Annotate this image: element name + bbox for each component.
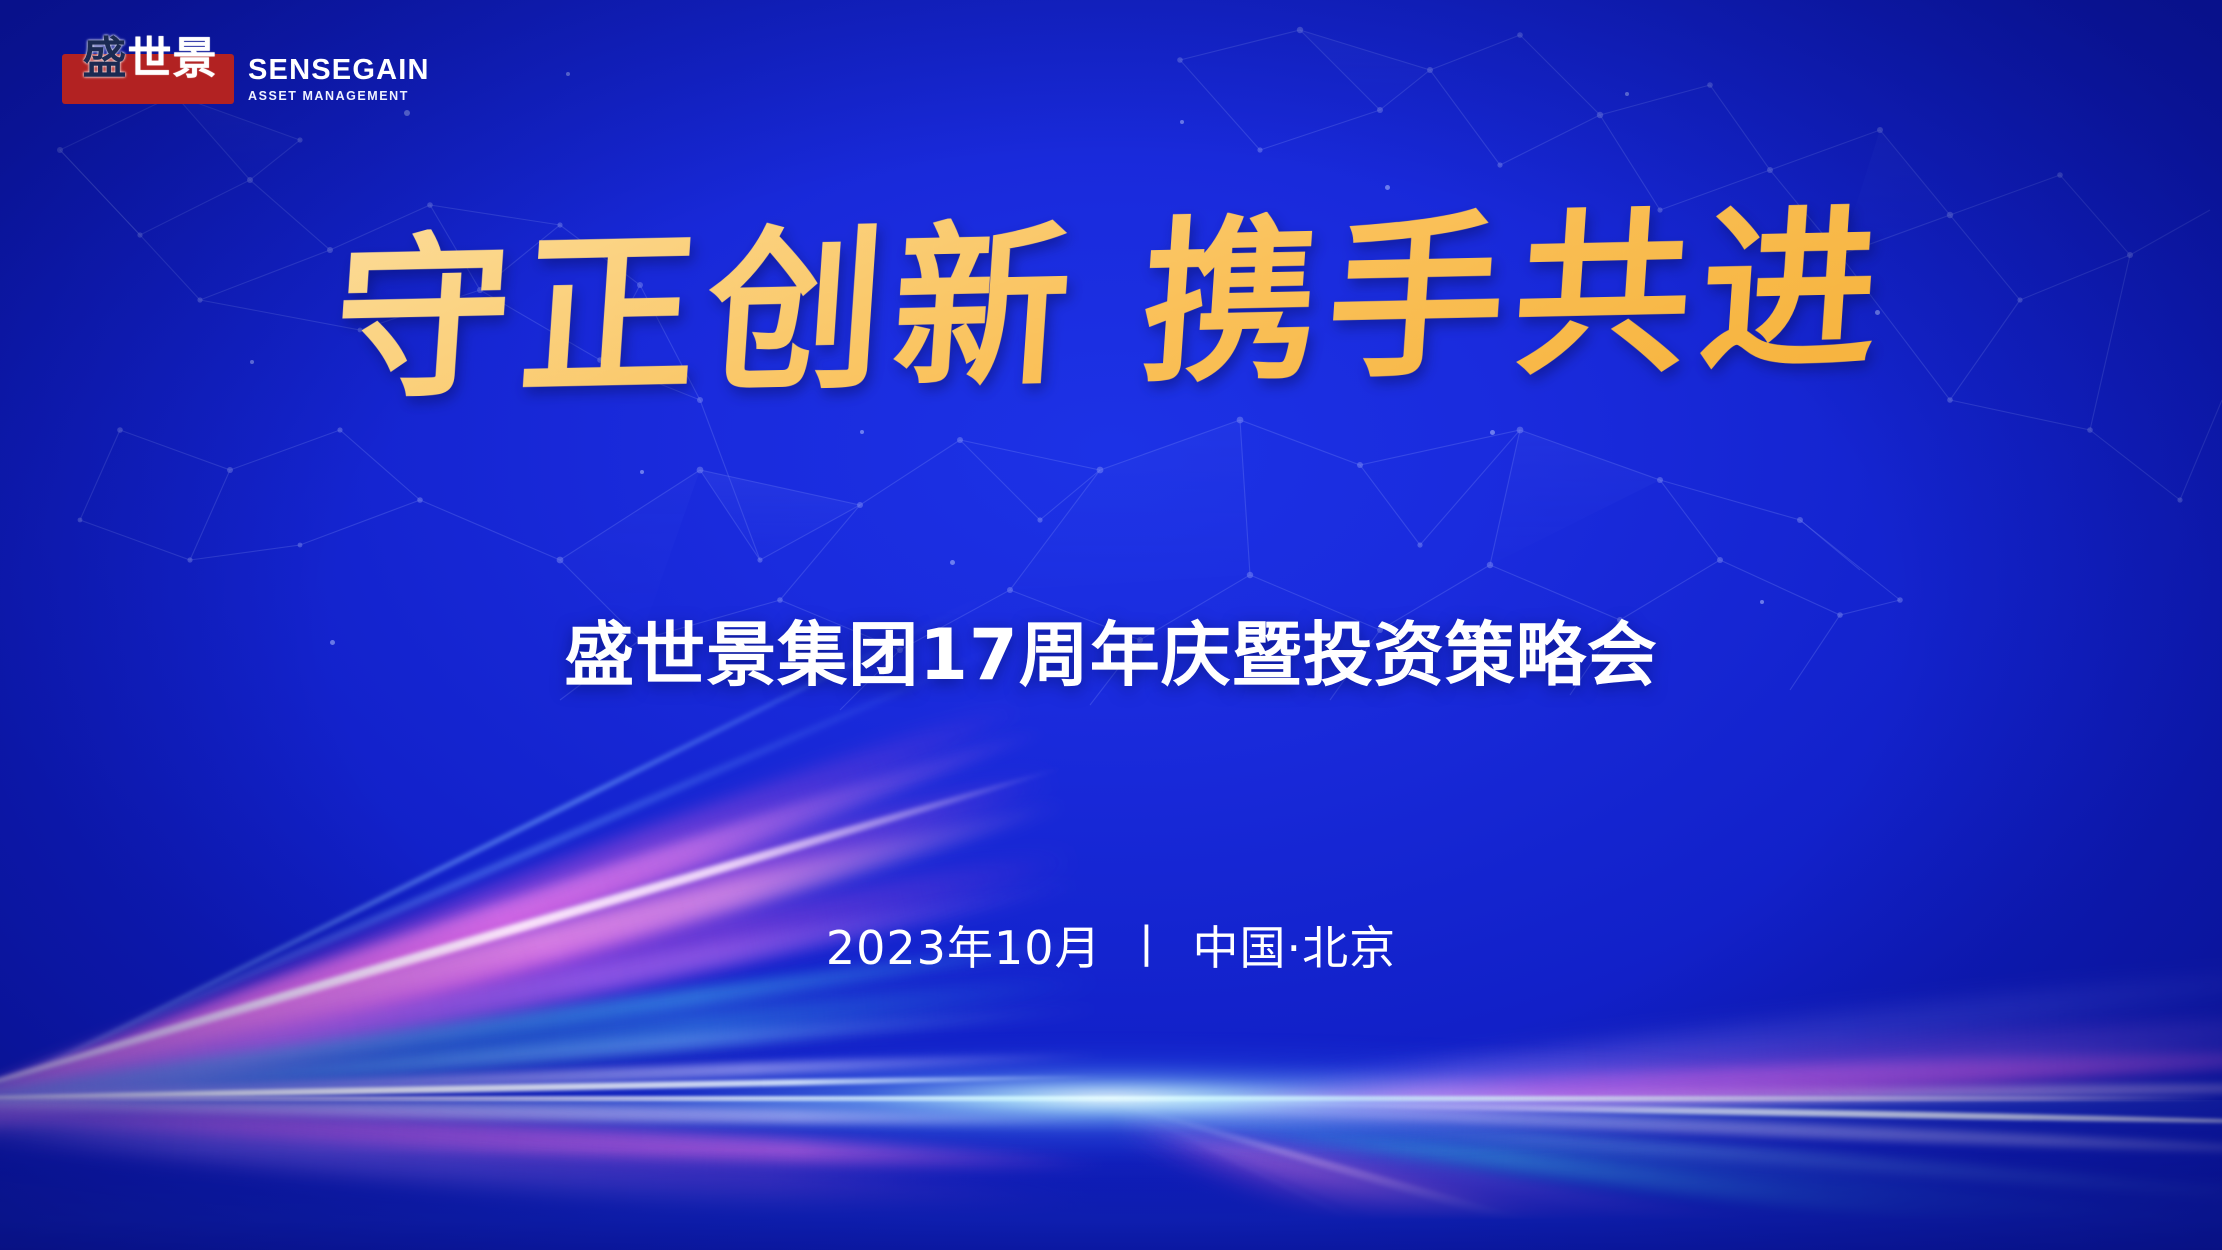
- logo-char-jing: 景: [173, 33, 218, 84]
- logo-char-sheng: 盛: [83, 33, 128, 84]
- event-subtitle: 盛世景集团17周年庆暨投资策略会: [0, 620, 2222, 690]
- brand-logo[interactable]: 盛世景 SENSEGAIN ASSET MANAGEMENT: [62, 36, 362, 116]
- logo-chinese-wordmark: 盛世景: [66, 22, 234, 98]
- logo-english-block: SENSEGAIN ASSET MANAGEMENT: [248, 56, 418, 103]
- headline-gap: [1076, 365, 1138, 366]
- event-location: 中国·北京: [1192, 921, 1396, 975]
- meta-separator: 丨: [1123, 924, 1170, 970]
- event-date: 2023年10月: [826, 921, 1102, 975]
- headline-part-2: 携手共进: [1135, 185, 1894, 408]
- logo-char-shi: 世: [128, 33, 173, 84]
- logo-brand-name: SENSEGAIN: [248, 56, 418, 85]
- event-banner: 盛世景 SENSEGAIN ASSET MANAGEMENT 守正创新携手共进 …: [0, 0, 2222, 1250]
- headline-part-1: 守正创新: [328, 202, 1087, 425]
- logo-brand-tagline: ASSET MANAGEMENT: [248, 90, 418, 103]
- event-meta: 2023年10月丨中国·北京: [0, 925, 2222, 971]
